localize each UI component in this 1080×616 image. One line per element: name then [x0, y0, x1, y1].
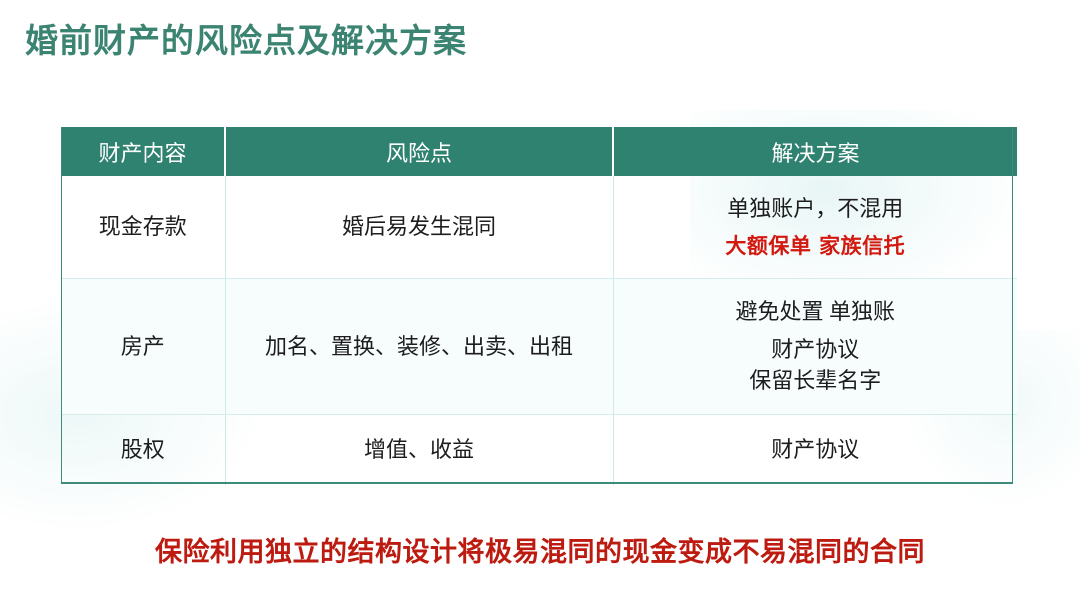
solution-line-highlight: 大额保单 家族信托 — [614, 231, 1018, 261]
column-header-risk: 风险点 — [225, 127, 613, 176]
table-row: 房产 加名、置换、装修、出卖、出租 避免处置 单独账 财产协议 保留长辈名字 — [61, 279, 1017, 415]
table-row: 股权 增值、收益 财产协议 — [61, 415, 1017, 486]
cell-risk: 婚后易发生混同 — [225, 176, 613, 279]
cell-risk: 增值、收益 — [225, 415, 613, 486]
solution-line: 保留长辈名字 — [614, 365, 1018, 397]
table-header-row: 财产内容 风险点 解决方案 — [61, 127, 1017, 176]
cell-asset: 现金存款 — [61, 176, 225, 279]
cell-risk: 加名、置换、装修、出卖、出租 — [225, 279, 613, 415]
page-title: 婚前财产的风险点及解决方案 — [25, 14, 467, 62]
table-row: 现金存款 婚后易发生混同 单独账户，不混用 大额保单 家族信托 — [61, 176, 1017, 279]
column-header-solution: 解决方案 — [613, 127, 1017, 176]
solution-line: 避免处置 单独账 — [614, 296, 1018, 328]
table-body: 现金存款 婚后易发生混同 单独账户，不混用 大额保单 家族信托 房产 加名、置换… — [61, 176, 1017, 485]
cell-solution: 单独账户，不混用 大额保单 家族信托 — [613, 176, 1017, 279]
footer-highlight-note: 保险利用独立的结构设计将极易混同的现金变成不易混同的合同 — [0, 530, 1080, 569]
column-header-asset: 财产内容 — [61, 127, 225, 176]
cell-solution: 财产协议 — [613, 415, 1017, 486]
solution-line: 财产协议 — [614, 434, 1018, 466]
cell-asset: 房产 — [61, 279, 225, 415]
table-header: 财产内容 风险点 解决方案 — [61, 127, 1017, 176]
cell-asset: 股权 — [61, 415, 225, 486]
risk-solution-table: 财产内容 风险点 解决方案 现金存款 婚后易发生混同 单独账户，不混用 大额保单… — [61, 127, 1017, 485]
solution-line: 财产协议 — [614, 334, 1018, 366]
cell-solution: 避免处置 单独账 财产协议 保留长辈名字 — [613, 279, 1017, 415]
solution-line: 单独账户，不混用 — [614, 193, 1018, 225]
